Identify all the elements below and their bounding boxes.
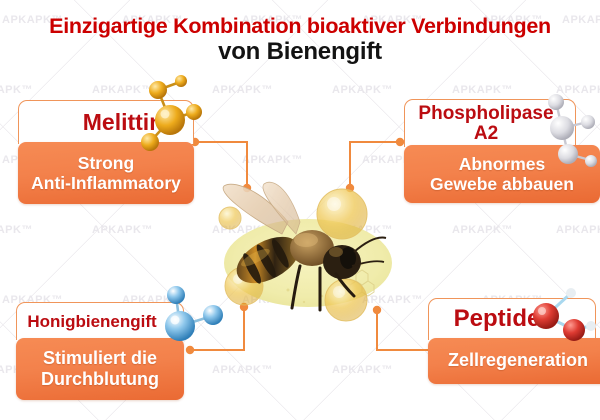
- callout-peptide-body: Zellregeneration: [428, 338, 600, 384]
- callout-honigbienengift[interactable]: Honigbienengift Stimuliert die Durchblut…: [16, 302, 184, 400]
- page-title-line2: von Bienengift: [0, 38, 600, 66]
- connector-dot: [243, 184, 251, 192]
- callout-honigbienengift-heading: Honigbienengift: [16, 302, 184, 340]
- callout-phospholipase-heading-line2: A2: [474, 123, 498, 144]
- callout-honigbienengift-body-line1: Stimuliert die: [43, 348, 157, 368]
- callout-phospholipase-body-line2: Gewebe abbauen: [430, 174, 574, 194]
- connector-honigbienengift: [190, 307, 244, 350]
- connector-dot: [240, 303, 248, 311]
- callout-melittin[interactable]: Melittin Strong Anti-Inflammatory: [18, 100, 194, 204]
- callout-phospholipase-body: Abnormes Gewebe abbauen: [404, 145, 600, 203]
- connector-melittin: [195, 142, 247, 188]
- infographic-canvas: APKAPK™ APKAPK™ APKAPK™ APKAPK™ APKAPK™ …: [0, 0, 600, 420]
- callout-melittin-heading: Melittin: [18, 100, 194, 144]
- connector-dot: [186, 346, 194, 354]
- page-title-line1: Einzigartige Kombination bioaktiver Verb…: [0, 14, 600, 39]
- callout-melittin-body-line2: Anti-Inflammatory: [31, 173, 181, 193]
- connector-dot: [396, 138, 404, 146]
- callout-honigbienengift-body-line2: Durchblutung: [41, 369, 159, 389]
- callout-honigbienengift-body: Stimuliert die Durchblutung: [16, 338, 184, 400]
- callout-peptide-heading: Peptide: [428, 298, 596, 340]
- callout-phospholipase-heading-line1: Phospholipase: [418, 103, 553, 124]
- connector-peptide: [377, 310, 432, 350]
- connector-phospholipase: [350, 142, 400, 188]
- callout-melittin-body: Strong Anti-Inflammatory: [18, 142, 194, 204]
- callout-peptide[interactable]: Peptide Zellregeneration: [428, 298, 596, 384]
- connector-dot: [346, 184, 354, 192]
- callout-phospholipase-heading: Phospholipase A2: [404, 99, 576, 147]
- callout-melittin-body-line1: Strong: [78, 153, 134, 173]
- callout-phospholipase-body-line1: Abnormes: [459, 154, 546, 174]
- callout-phospholipase[interactable]: Phospholipase A2 Abnormes Gewebe abbauen: [404, 99, 576, 203]
- connector-dot: [373, 306, 381, 314]
